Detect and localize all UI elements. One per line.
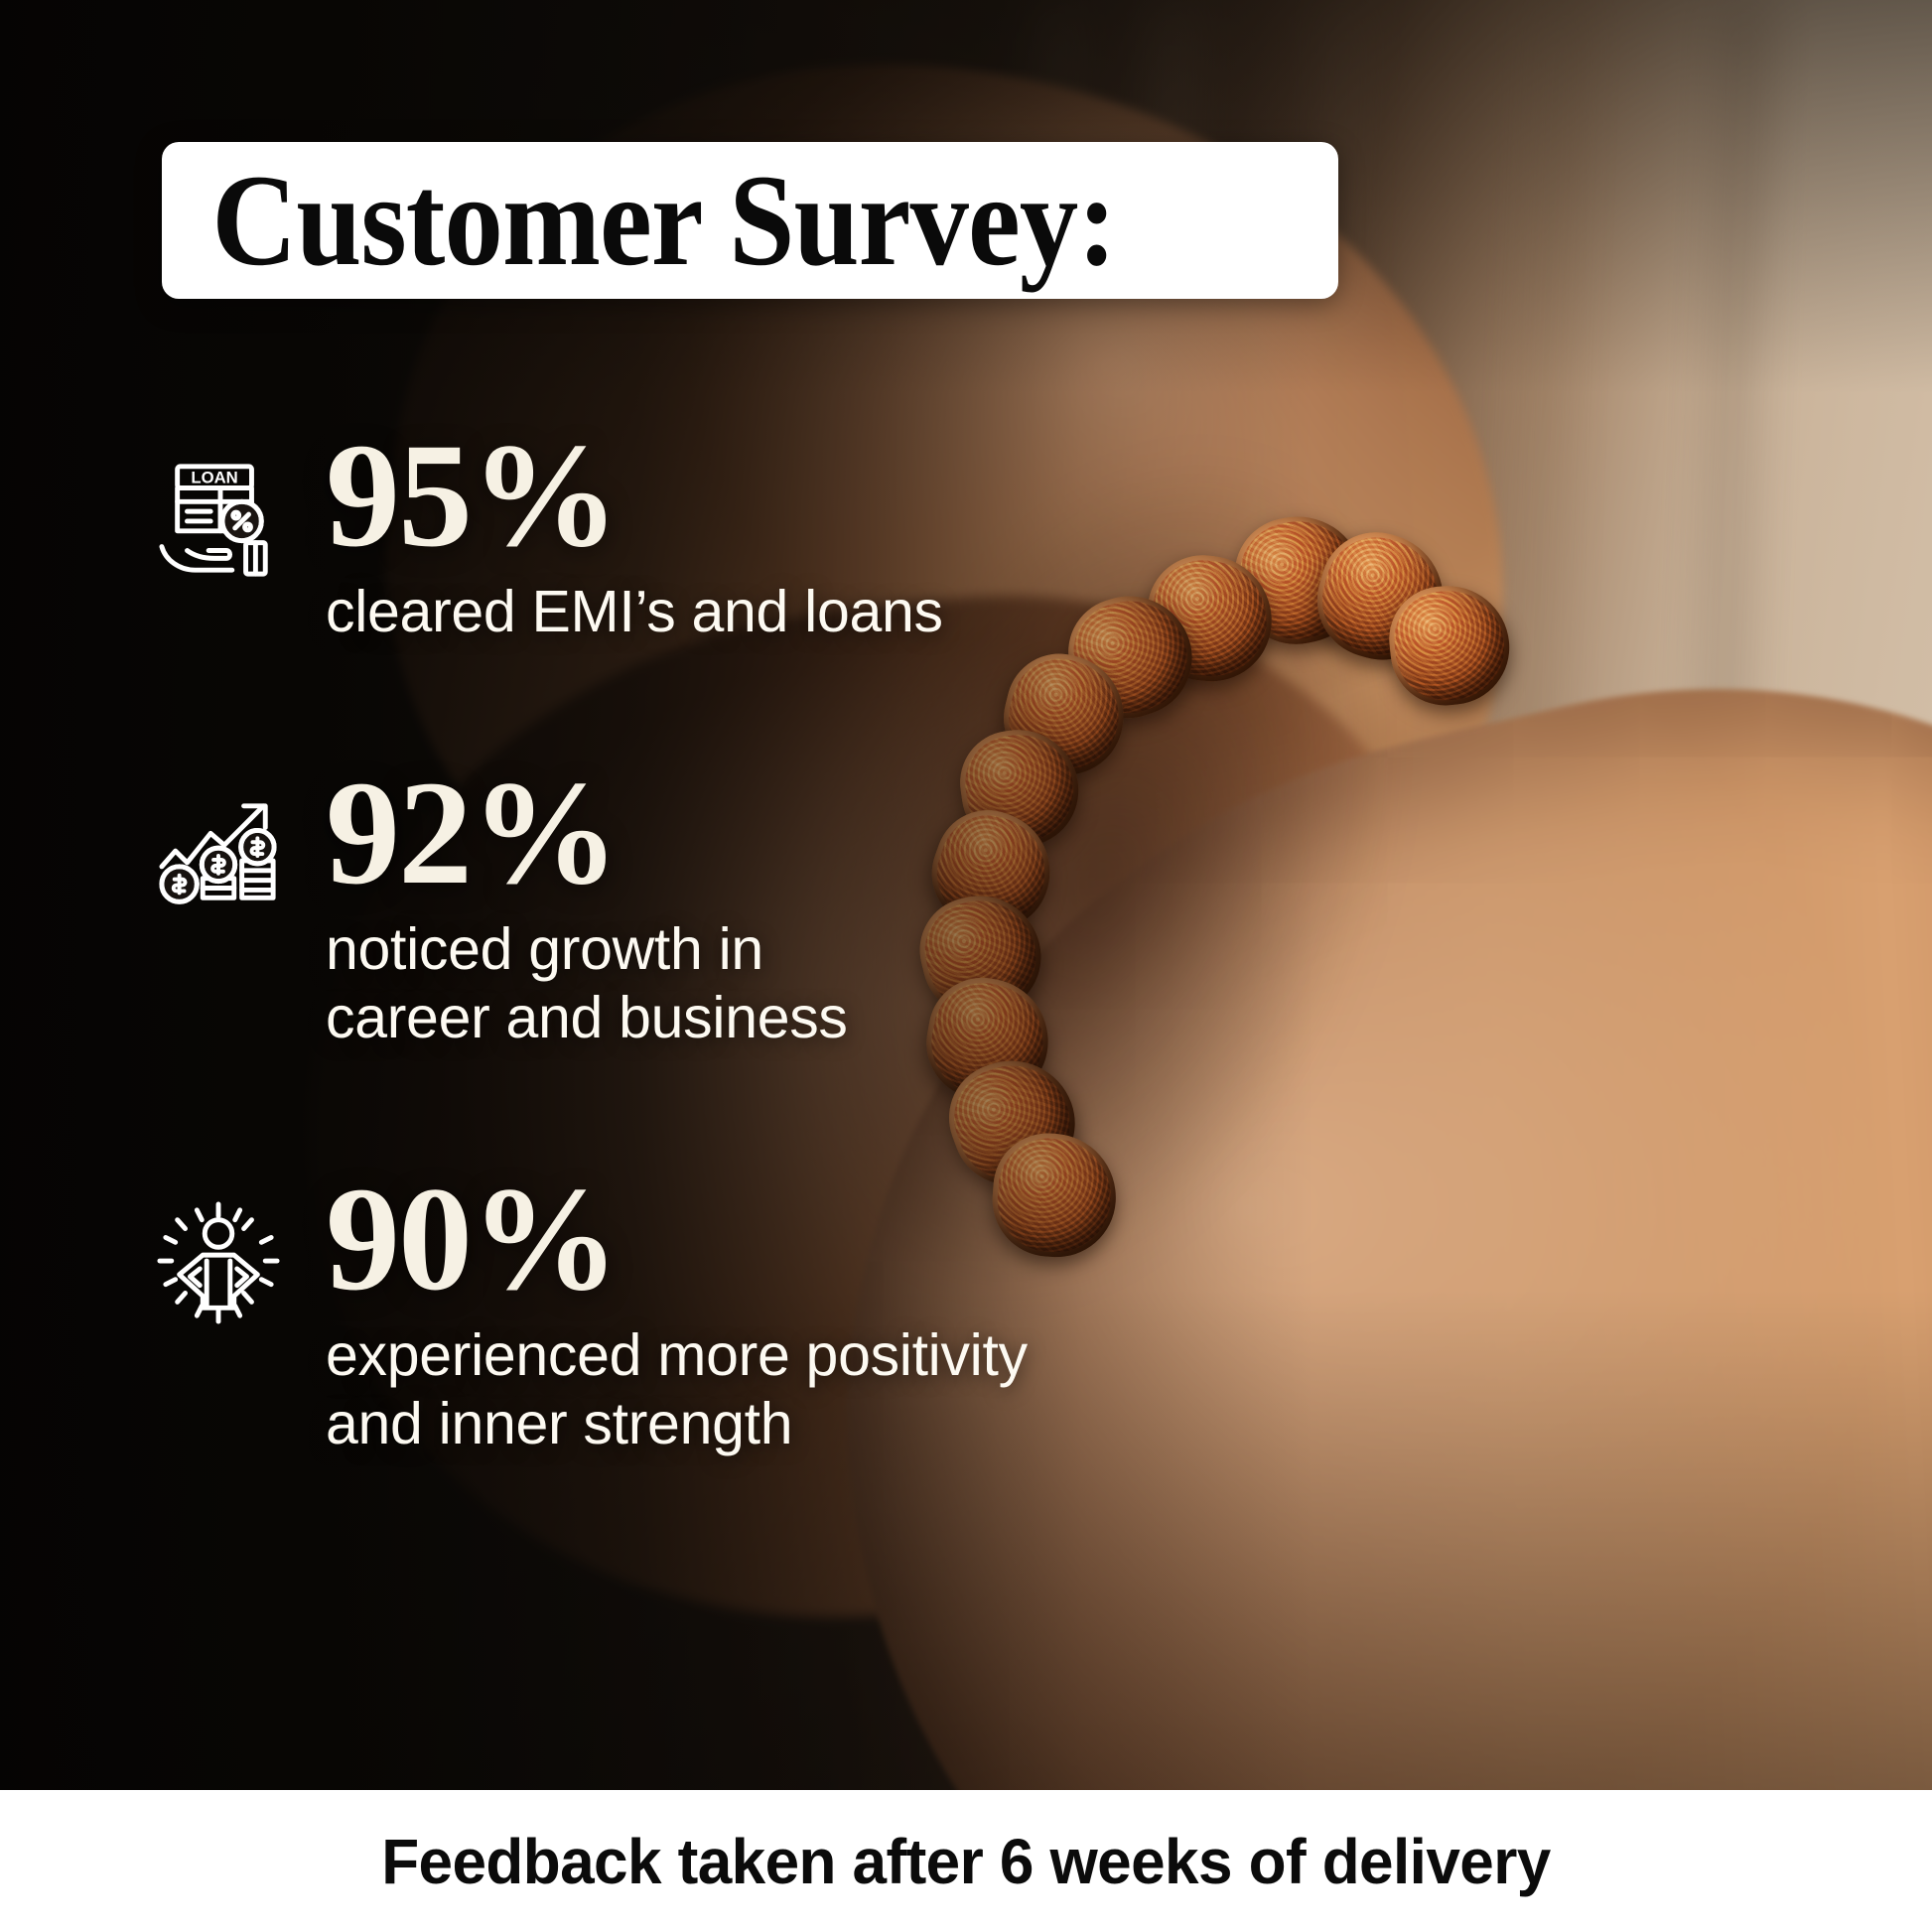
stat-percent: 90%	[326, 1171, 1028, 1308]
stat-percent: 92%	[326, 764, 848, 901]
radiant-person-icon	[149, 1200, 288, 1325]
stat-row: 90% experienced more positivity and inne…	[0, 1171, 1191, 1459]
stat-body: 90% experienced more positivity and inne…	[288, 1171, 1028, 1459]
page-title: Customer Survey:	[162, 155, 1116, 286]
stat-description: noticed growth in career and business	[326, 915, 848, 1053]
survey-infographic: Customer Survey: LOAN	[0, 0, 1932, 1932]
footer-note: Feedback taken after 6 weeks of delivery	[381, 1825, 1551, 1898]
stats-list: LOAN 95%	[0, 427, 1191, 1459]
stat-body: 95% cleared EMI’s and loans	[288, 427, 943, 647]
stat-description: experienced more positivity and inner st…	[326, 1321, 1028, 1459]
svg-text:LOAN: LOAN	[191, 469, 237, 487]
stat-description: cleared EMI’s and loans	[326, 578, 943, 647]
footer-band: Feedback taken after 6 weeks of delivery	[0, 1790, 1932, 1932]
growth-chart-coins-icon	[149, 794, 288, 919]
stat-body: 92% noticed growth in career and busines…	[288, 764, 848, 1053]
stat-percent: 95%	[326, 427, 943, 564]
title-banner: Customer Survey:	[162, 142, 1338, 299]
stat-row: 92% noticed growth in career and busines…	[0, 764, 1191, 1053]
loan-document-hand-icon: LOAN	[149, 457, 288, 582]
stat-row: LOAN 95%	[0, 427, 1191, 647]
